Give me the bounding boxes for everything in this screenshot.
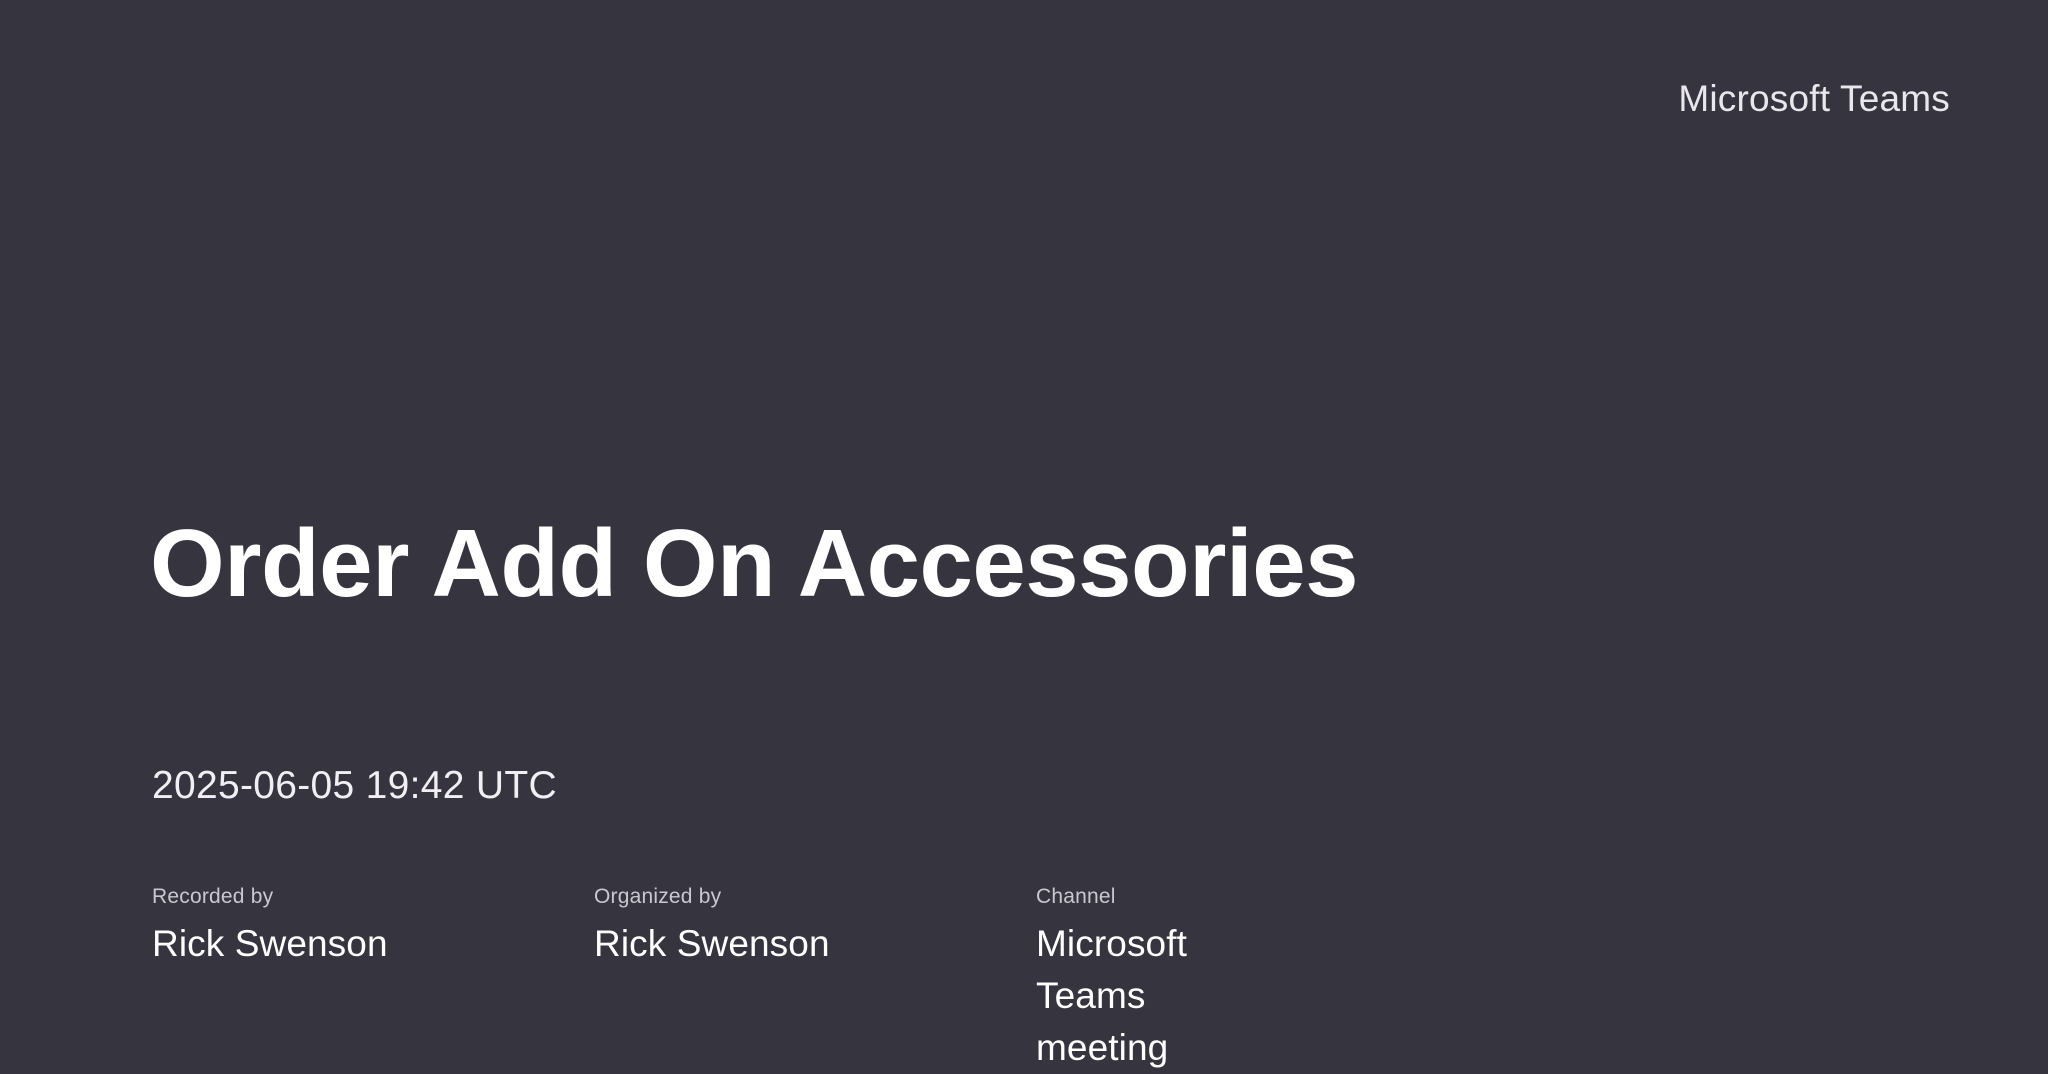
metadata-label: Recorded by	[152, 884, 564, 910]
metadata-value: Microsoft Teams meeting	[1036, 918, 1286, 1074]
metadata-recorded-by: Recorded by Rick Swenson	[152, 884, 594, 970]
metadata-organized-by: Organized by Rick Swenson	[594, 884, 1036, 970]
metadata-row: Recorded by Rick Swenson Organized by Ri…	[152, 884, 1366, 1074]
metadata-channel: Channel Microsoft Teams meeting	[1036, 884, 1366, 1074]
page-title: Order Add On Accessories	[150, 512, 1650, 616]
recording-timestamp: 2025-06-05 19:42 UTC	[152, 762, 557, 810]
metadata-label: Organized by	[594, 884, 1006, 910]
brand-header: Microsoft Teams	[1678, 76, 1950, 122]
recording-title-slide: Microsoft Teams Order Add On Accessories…	[0, 0, 2048, 1056]
metadata-value: Rick Swenson	[594, 918, 1006, 970]
metadata-label: Channel	[1036, 884, 1336, 910]
metadata-value: Rick Swenson	[152, 918, 564, 970]
